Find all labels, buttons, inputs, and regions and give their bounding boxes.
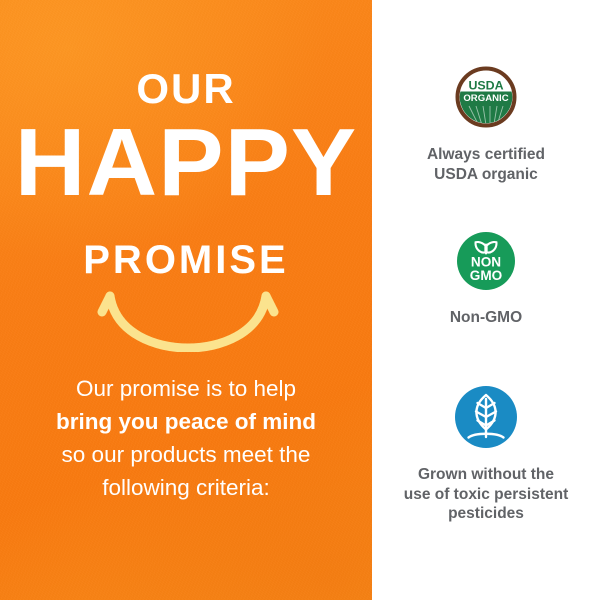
promise-body-line-4: following criteria:: [18, 471, 354, 504]
claim-usda-organic: USDA ORGANIC Always certified USDA organ…: [372, 66, 600, 184]
claims-column: USDA ORGANIC Always certified USDA organ…: [372, 0, 600, 600]
usda-seal-bottom-text: ORGANIC: [463, 93, 508, 104]
promise-body-line-1: Our promise is to help: [18, 372, 354, 405]
claim-non-gmo-caption-line-1: Non-GMO: [372, 308, 600, 328]
promise-body-line-2: bring you peace of mind: [18, 405, 354, 438]
smile-swoosh-icon: [96, 288, 280, 352]
non-gmo-seal-icon: NON GMO: [372, 232, 600, 295]
claim-no-pesticides-caption: Grown without the use of toxic persisten…: [372, 465, 600, 524]
usda-seal-top-text: USDA: [468, 78, 503, 92]
promise-body-text: Our promise is to help bring you peace o…: [18, 372, 354, 504]
claim-usda-caption-line-1: Always certified: [372, 145, 600, 165]
happy-promise-poster: OUR HAPPY PROMISE Our promise is to help…: [0, 0, 600, 600]
blue-leaf-seal-icon: [372, 386, 600, 453]
orange-panel: OUR HAPPY PROMISE Our promise is to help…: [0, 0, 372, 600]
headline-our: OUR: [0, 68, 372, 110]
headline-promise: PROMISE: [0, 240, 372, 280]
promise-body-line-3: so our products meet the: [18, 438, 354, 471]
claim-no-pesticides: Grown without the use of toxic persisten…: [372, 386, 600, 524]
claim-usda-caption-line-2: USDA organic: [372, 165, 600, 185]
non-gmo-seal-bottom-text: GMO: [470, 268, 502, 283]
claim-no-pesticides-caption-line-2: use of toxic persistent: [372, 485, 600, 505]
usda-organic-seal-icon: USDA ORGANIC: [372, 66, 600, 133]
claim-usda-caption: Always certified USDA organic: [372, 145, 600, 184]
headline-happy: HAPPY: [0, 115, 372, 211]
claim-non-gmo-caption: Non-GMO: [372, 308, 600, 328]
claim-non-gmo: NON GMO Non-GMO: [372, 232, 600, 328]
claim-no-pesticides-caption-line-3: pesticides: [372, 504, 600, 524]
claim-no-pesticides-caption-line-1: Grown without the: [372, 465, 600, 485]
